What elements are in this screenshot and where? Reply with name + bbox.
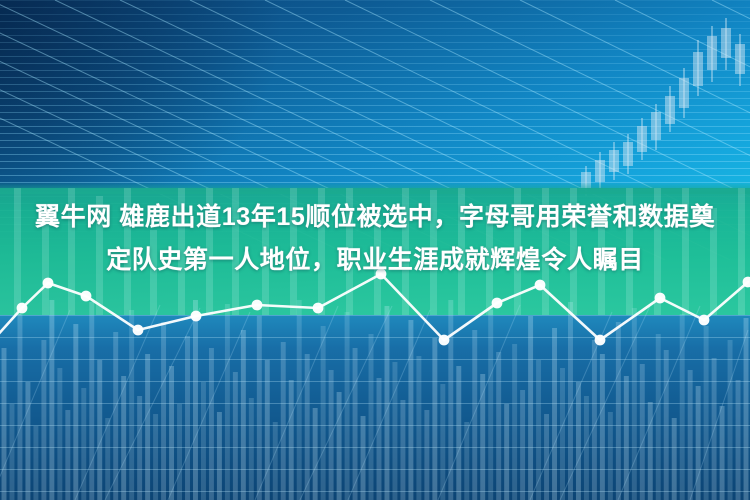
headline-line-1: 翼牛网 雄鹿出道13年15顺位被选中，字母哥用荣誉和数据奠: [0, 196, 750, 239]
headline-line-2: 定队史第一人地位，职业生涯成就辉煌令人瞩目: [0, 239, 750, 282]
headline-block: 翼牛网 雄鹿出道13年15顺位被选中，字母哥用荣誉和数据奠 定队史第一人地位，职…: [0, 196, 750, 282]
promo-banner: 翼牛网 雄鹿出道13年15顺位被选中，字母哥用荣誉和数据奠 定队史第一人地位，职…: [0, 0, 750, 500]
